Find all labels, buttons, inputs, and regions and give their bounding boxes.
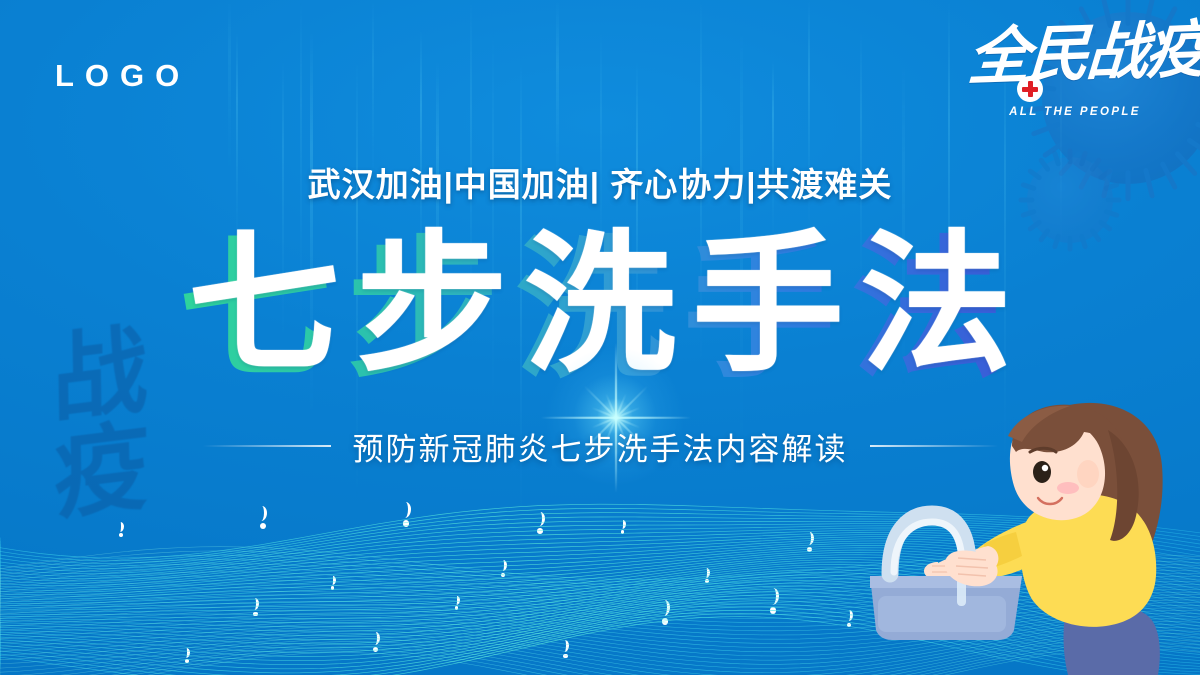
water-droplet-icon [846,610,853,627]
water-droplet-icon [500,560,507,577]
water-droplet-icon [372,632,380,652]
water-droplet-icon [330,576,336,590]
water-droplet-icon [536,512,545,534]
water-droplet-icon [258,506,267,529]
water-droplet-icon [660,600,670,625]
water-droplet-icon [620,520,626,534]
emblem-english-label: ALL THE PEOPLE [968,106,1182,118]
water-droplet-icon [252,598,259,616]
water-droplet-icon [704,568,710,583]
water-droplet-icon [454,596,460,610]
water-droplet-icon [768,588,779,614]
tagline-text: 预防新冠肺炎七步洗手法内容解读 [353,424,848,469]
water-droplet-icon [184,648,190,663]
tagline-rule-left [203,445,331,447]
emblem-calligraphy: 全民战疫 [966,20,1184,89]
main-title-text: 七步洗手法 [188,220,1028,390]
red-cross-icon [1017,76,1043,102]
water-droplet-icon [562,640,569,658]
water-droplet-icon [401,502,411,527]
poster-canvas: 战疫 LOGO 全民战疫 ALL THE PEOPLE 武汉加油|中国加油| 齐… [0,0,1200,675]
logo-text[interactable]: LOGO [55,58,190,94]
water-droplet-icon [806,532,814,552]
slogan-text: 武汉加油|中国加油| 齐心协力|共渡难关 [0,158,1200,206]
girl-washing-hands-illustration [862,390,1192,675]
main-title: 七步洗手法 七步洗手法 [0,218,1200,393]
emblem-all-the-people: 全民战疫 ALL THE PEOPLE [968,26,1182,142]
